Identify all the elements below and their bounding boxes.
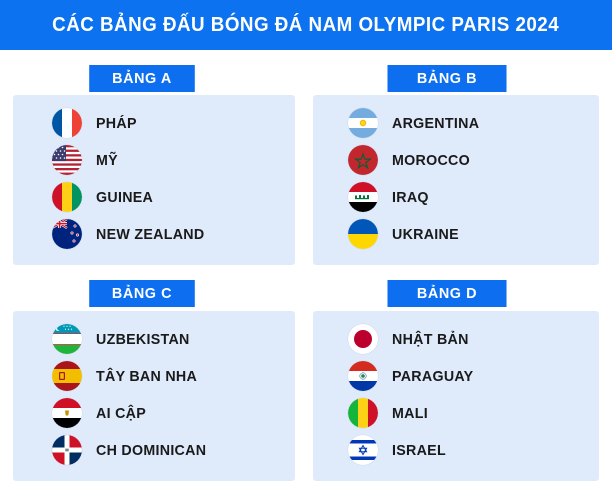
flag-egypt-icon bbox=[52, 398, 82, 428]
group-c-badge: BẢNG C bbox=[89, 280, 195, 307]
team-name: AI CẬP bbox=[96, 405, 146, 422]
team-name: NHẬT BẢN bbox=[392, 331, 469, 348]
team-name: ISRAEL bbox=[392, 442, 446, 459]
flag-uzbekistan-icon bbox=[52, 324, 82, 354]
flag-ukraine-icon bbox=[348, 219, 378, 249]
page-title: CÁC BẢNG ĐẤU BÓNG ĐÁ NAM OLYMPIC PARIS 2… bbox=[53, 14, 560, 37]
flag-new-zealand-icon bbox=[52, 219, 82, 249]
team-row[interactable]: ISRAEL bbox=[348, 434, 449, 466]
team-name: MỸ bbox=[96, 152, 118, 169]
team-row[interactable]: TÂY BAN NHA bbox=[52, 360, 202, 392]
flag-iraq-icon bbox=[348, 182, 378, 212]
flag-israel-icon bbox=[348, 435, 378, 465]
flag-mali-icon bbox=[348, 398, 378, 428]
team-name: UZBEKISTAN bbox=[96, 331, 190, 348]
team-row[interactable]: MALI bbox=[348, 397, 430, 429]
team-name: NEW ZEALAND bbox=[96, 226, 204, 243]
group-c-panel: UZBEKISTAN TÂY BAN NHA AI CẬP CH DOMINIC… bbox=[13, 311, 295, 481]
team-row[interactable]: AI CẬP bbox=[52, 397, 149, 429]
flag-guinea-icon bbox=[52, 182, 82, 212]
flag-morocco-icon bbox=[348, 145, 378, 175]
team-name: ARGENTINA bbox=[392, 115, 479, 132]
team-row[interactable]: UZBEKISTAN bbox=[52, 323, 195, 355]
team-row[interactable]: IRAQ bbox=[348, 181, 431, 213]
team-name: CH DOMINICAN bbox=[96, 442, 206, 459]
groups-grid: BẢNG A PHÁP MỸ GUINEA bbox=[0, 50, 612, 494]
team-name: PHÁP bbox=[96, 115, 137, 132]
flag-japan-icon bbox=[348, 324, 378, 354]
team-name: UKRAINE bbox=[392, 226, 459, 243]
team-row[interactable]: GUINEA bbox=[52, 181, 156, 213]
group-b-badge: BẢNG B bbox=[387, 65, 506, 92]
team-name: PARAGUAY bbox=[392, 368, 473, 385]
team-row[interactable]: MỸ bbox=[52, 144, 119, 176]
flag-usa-icon bbox=[52, 145, 82, 175]
team-row[interactable]: MOROCCO bbox=[348, 144, 474, 176]
flag-spain-icon bbox=[52, 361, 82, 391]
group-a-panel: PHÁP MỸ GUINEA NEW ZEALAND bbox=[13, 95, 295, 265]
team-row[interactable]: CH DOMINICAN bbox=[52, 434, 212, 466]
group-d-badge: BẢNG D bbox=[387, 280, 506, 307]
flag-paraguay-icon bbox=[348, 361, 378, 391]
team-row[interactable]: NHẬT BẢN bbox=[348, 323, 473, 355]
team-name: MALI bbox=[392, 405, 428, 422]
team-name: GUINEA bbox=[96, 189, 153, 206]
team-row[interactable]: PHÁP bbox=[52, 107, 139, 139]
team-name: TÂY BAN NHA bbox=[96, 368, 197, 385]
team-row[interactable]: ARGENTINA bbox=[348, 107, 484, 139]
group-a-badge: BẢNG A bbox=[89, 65, 195, 92]
team-row[interactable]: UKRAINE bbox=[348, 218, 462, 250]
flag-dominican-republic-icon bbox=[52, 435, 82, 465]
flag-argentina-icon bbox=[348, 108, 378, 138]
team-name: IRAQ bbox=[392, 189, 429, 206]
group-b-panel: ARGENTINA MOROCCO IRAQ UKRAINE bbox=[313, 95, 599, 265]
page-header: CÁC BẢNG ĐẤU BÓNG ĐÁ NAM OLYMPIC PARIS 2… bbox=[0, 0, 612, 50]
flag-france-icon bbox=[52, 108, 82, 138]
group-d-panel: NHẬT BẢN PARAGUAY MALI ISRAEL bbox=[313, 311, 599, 481]
team-name: MOROCCO bbox=[392, 152, 470, 169]
team-row[interactable]: PARAGUAY bbox=[348, 360, 478, 392]
team-row[interactable]: NEW ZEALAND bbox=[52, 218, 210, 250]
